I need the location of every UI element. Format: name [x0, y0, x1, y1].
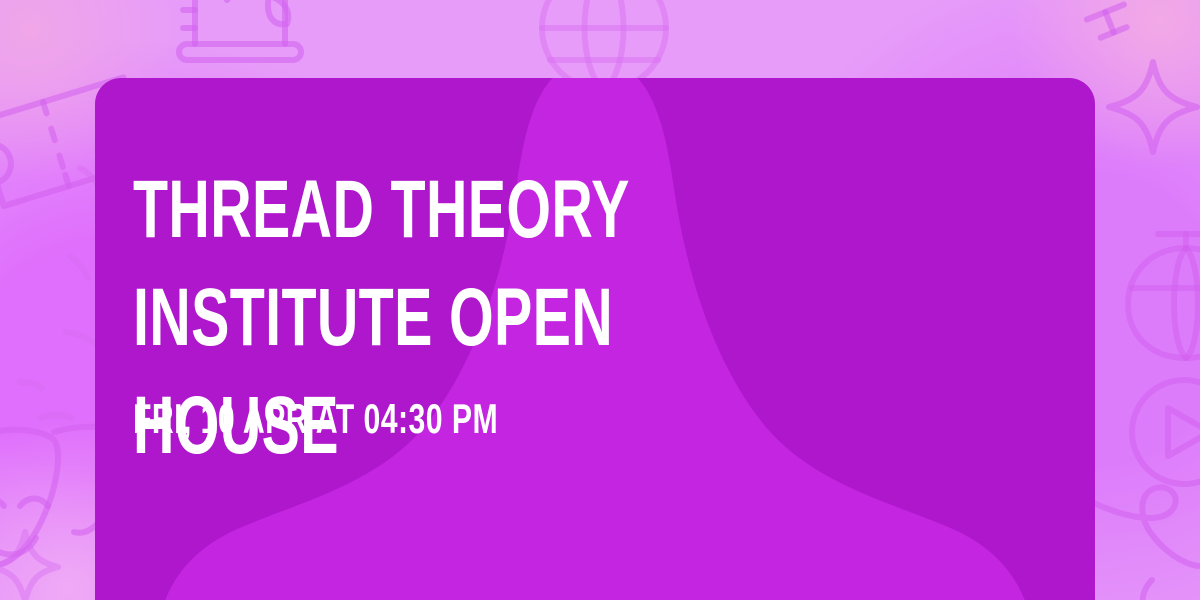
- event-banner: Thread Theory Institute Open House Fri, …: [0, 0, 1200, 600]
- event-card: Thread Theory Institute Open House Fri, …: [95, 78, 1095, 600]
- event-card-content: Thread Theory Institute Open House Fri, …: [133, 78, 1057, 600]
- event-date-time: Fri, 10 Apr at 04:30 PM: [133, 394, 498, 444]
